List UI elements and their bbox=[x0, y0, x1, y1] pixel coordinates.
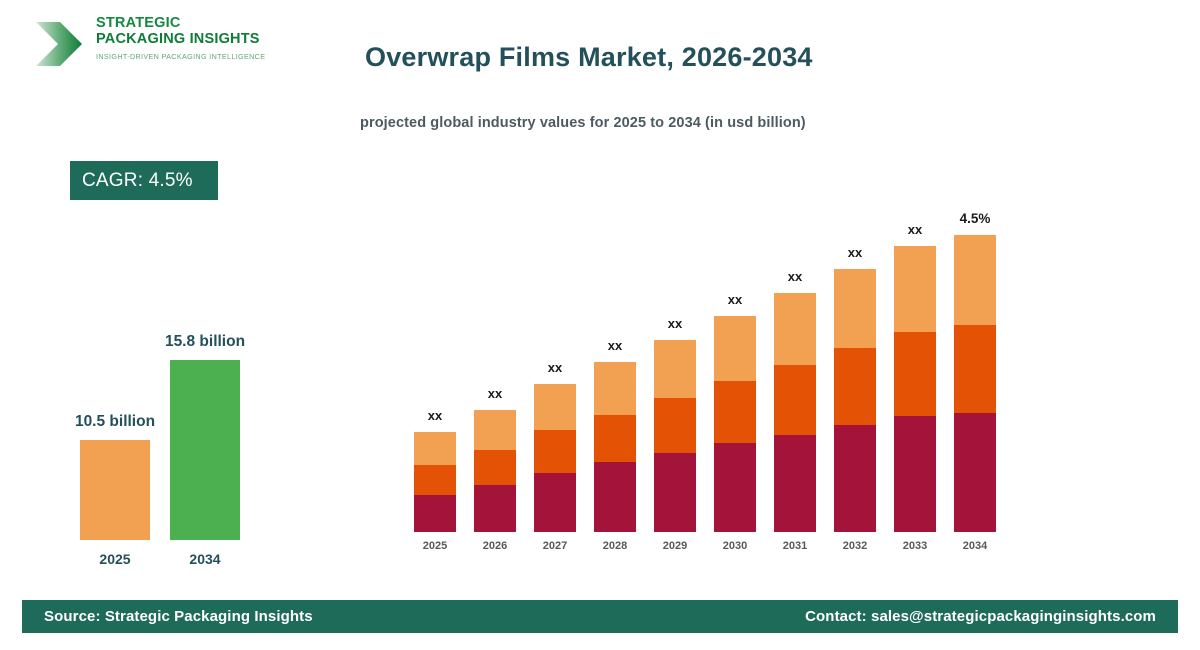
comparison-category-2025: 2025 bbox=[99, 551, 130, 567]
stacked-segment-segment-middle-2030 bbox=[714, 381, 756, 443]
stacked-bar-year-2028: 2028 bbox=[603, 540, 627, 552]
stacked-bar-2025: xx2025 bbox=[414, 432, 456, 532]
stacked-bar-label-2033: xx bbox=[908, 222, 922, 237]
comparison-bar-2034: 15.8 billion 2034 bbox=[170, 360, 240, 540]
chevron-arrow-icon bbox=[32, 16, 86, 72]
stacked-segment-segment-middle-2026 bbox=[474, 450, 516, 485]
stacked-segment-segment-bottom-2026 bbox=[474, 485, 516, 532]
stacked-bar-label-2029: xx bbox=[668, 316, 682, 331]
stacked-bar-year-2029: 2029 bbox=[663, 540, 687, 552]
stacked-segment-segment-middle-2032 bbox=[834, 348, 876, 425]
logo-wordmark: STRATEGIC PACKAGING INSIGHTS INSIGHT-DRI… bbox=[96, 16, 265, 61]
stacked-bar-2030: xx2030 bbox=[714, 316, 756, 532]
stacked-segment-segment-top-2031 bbox=[774, 293, 816, 365]
stacked-segment-segment-bottom-2031 bbox=[774, 435, 816, 532]
stacked-bar-2028: xx2028 bbox=[594, 362, 636, 532]
stacked-segment-segment-bottom-2032 bbox=[834, 425, 876, 532]
stacked-bar-2031: xx2031 bbox=[774, 293, 816, 532]
company-logo: STRATEGIC PACKAGING INSIGHTS INSIGHT-DRI… bbox=[30, 14, 280, 76]
footer-bar: Source: Strategic Packaging Insights Con… bbox=[22, 600, 1178, 633]
stacked-segment-segment-top-2029 bbox=[654, 340, 696, 398]
stacked-bar-2026: xx2026 bbox=[474, 410, 516, 532]
stacked-segment-segment-bottom-2034 bbox=[954, 413, 996, 532]
stacked-segment-segment-top-2033 bbox=[894, 246, 936, 332]
stacked-segment-segment-bottom-2027 bbox=[534, 473, 576, 532]
comparison-bar-fill bbox=[80, 440, 150, 540]
stacked-segment-segment-bottom-2030 bbox=[714, 443, 756, 532]
stacked-segment-segment-top-2026 bbox=[474, 410, 516, 450]
stacked-bar-2032: xx2032 bbox=[834, 269, 876, 532]
stacked-bar-year-2034: 2034 bbox=[963, 540, 987, 552]
stacked-bar-2034: 4.5%2034 bbox=[954, 235, 996, 532]
stacked-segment-segment-bottom-2029 bbox=[654, 453, 696, 532]
stacked-bar-label-2026: xx bbox=[488, 386, 502, 401]
stacked-bar-chart: xx2025xx2026xx2027xx2028xx2029xx2030xx20… bbox=[400, 195, 1020, 565]
footer-source: Source: Strategic Packaging Insights bbox=[44, 608, 313, 625]
stacked-bar-label-2030: xx bbox=[728, 292, 742, 307]
stacked-bar-year-2032: 2032 bbox=[843, 540, 867, 552]
stacked-bar-year-2027: 2027 bbox=[543, 540, 567, 552]
stacked-segment-segment-bottom-2025 bbox=[414, 495, 456, 532]
comparison-value-2034: 15.8 billion bbox=[165, 333, 245, 351]
stacked-bar-year-2030: 2030 bbox=[723, 540, 747, 552]
comparison-bar-chart: 10.5 billion 2025 15.8 billion 2034 bbox=[40, 300, 310, 570]
stacked-bar-2027: xx2027 bbox=[534, 384, 576, 532]
stacked-bar-label-2034: 4.5% bbox=[960, 211, 991, 226]
stacked-bar-year-2033: 2033 bbox=[903, 540, 927, 552]
stacked-bar-2029: xx2029 bbox=[654, 340, 696, 532]
logo-line-1: STRATEGIC bbox=[96, 16, 265, 32]
stacked-bar-year-2025: 2025 bbox=[423, 540, 447, 552]
page-subtitle: projected global industry values for 202… bbox=[360, 115, 1060, 131]
stacked-segment-segment-top-2028 bbox=[594, 362, 636, 415]
stacked-bar-label-2028: xx bbox=[608, 338, 622, 353]
comparison-bar-2025: 10.5 billion 2025 bbox=[80, 440, 150, 540]
cagr-badge: CAGR: 4.5% bbox=[70, 161, 218, 200]
stacked-segment-segment-top-2027 bbox=[534, 384, 576, 430]
stacked-bar-label-2025: xx bbox=[428, 408, 442, 423]
stacked-segment-segment-top-2032 bbox=[834, 269, 876, 348]
chart-page: STRATEGIC PACKAGING INSIGHTS INSIGHT-DRI… bbox=[0, 0, 1200, 650]
logo-line-2: PACKAGING INSIGHTS bbox=[96, 32, 265, 48]
stacked-bar-year-2031: 2031 bbox=[783, 540, 807, 552]
stacked-segment-segment-top-2030 bbox=[714, 316, 756, 381]
stacked-segment-segment-middle-2025 bbox=[414, 465, 456, 495]
stacked-segment-segment-middle-2034 bbox=[954, 325, 996, 413]
comparison-value-2025: 10.5 billion bbox=[75, 413, 155, 431]
comparison-category-2034: 2034 bbox=[189, 551, 220, 567]
stacked-segment-segment-bottom-2033 bbox=[894, 416, 936, 532]
footer-contact: Contact: sales@strategicpackaginginsight… bbox=[805, 608, 1156, 625]
stacked-segment-segment-middle-2029 bbox=[654, 398, 696, 453]
stacked-bar-label-2027: xx bbox=[548, 360, 562, 375]
page-title: Overwrap Films Market, 2026-2034 bbox=[365, 42, 1065, 73]
comparison-bar-fill bbox=[170, 360, 240, 540]
stacked-bar-year-2026: 2026 bbox=[483, 540, 507, 552]
logo-tagline: INSIGHT-DRIVEN PACKAGING INTELLIGENCE bbox=[96, 52, 265, 61]
stacked-segment-segment-bottom-2028 bbox=[594, 462, 636, 532]
stacked-segment-segment-middle-2028 bbox=[594, 415, 636, 462]
stacked-segment-segment-middle-2033 bbox=[894, 332, 936, 416]
stacked-bar-2033: xx2033 bbox=[894, 246, 936, 532]
stacked-segment-segment-top-2025 bbox=[414, 432, 456, 465]
stacked-segment-segment-middle-2027 bbox=[534, 430, 576, 473]
stacked-bar-label-2032: xx bbox=[848, 245, 862, 260]
stacked-segment-segment-middle-2031 bbox=[774, 365, 816, 435]
stacked-bar-label-2031: xx bbox=[788, 269, 802, 284]
stacked-segment-segment-top-2034 bbox=[954, 235, 996, 325]
